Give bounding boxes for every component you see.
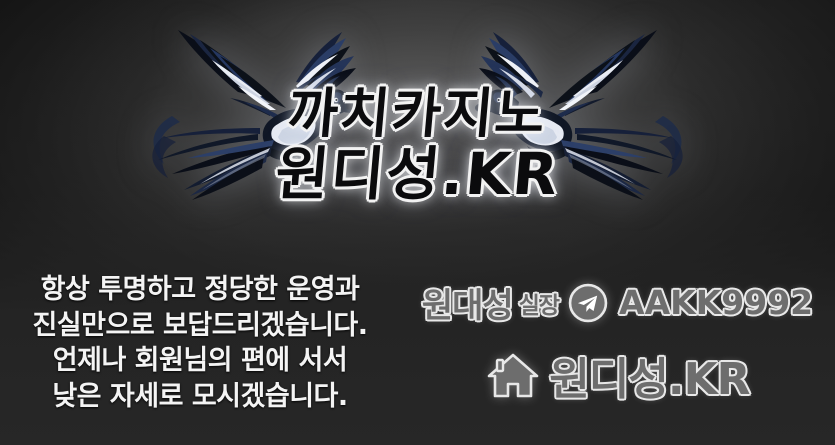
contact-block: 원대성 실장 AAKK9992 원디성.KR: [400, 262, 835, 407]
slogan-block: 항상 투명하고 정당한 운영과 진실만으로 보답드리겠습니다. 언제나 회원님의…: [0, 262, 400, 415]
manager-name: 원대성: [422, 278, 513, 327]
slogan-line-3: 언제나 회원님의 편에 서서: [0, 343, 400, 379]
casino-promo-banner: 까치카지노 원디성.KR 항상 투명하고 정당한 운영과 진실만으로 보답드리겠…: [0, 0, 835, 445]
telegram-icon[interactable]: [567, 282, 609, 324]
website-row[interactable]: 원디성.KR: [485, 343, 749, 407]
slogan-line-2: 진실만으로 보답드리겠습니다.: [0, 308, 400, 344]
slogan-line-1: 항상 투명하고 정당한 운영과: [0, 272, 400, 308]
magpie-illustration-right: [465, 8, 715, 203]
slogan-line-4: 낮은 자세로 모시겠습니다.: [0, 379, 400, 415]
website-domain[interactable]: 원디성.KR: [549, 343, 749, 407]
telegram-handle[interactable]: AAKK9992: [619, 283, 813, 322]
telegram-contact-row[interactable]: 원대성 실장 AAKK9992: [422, 278, 813, 327]
magpie-illustration-left: [120, 8, 370, 203]
home-icon[interactable]: [485, 350, 541, 400]
banner-lower-section: 항상 투명하고 정당한 운영과 진실만으로 보답드리겠습니다. 언제나 회원님의…: [0, 262, 835, 445]
manager-role: 실장: [519, 286, 559, 320]
